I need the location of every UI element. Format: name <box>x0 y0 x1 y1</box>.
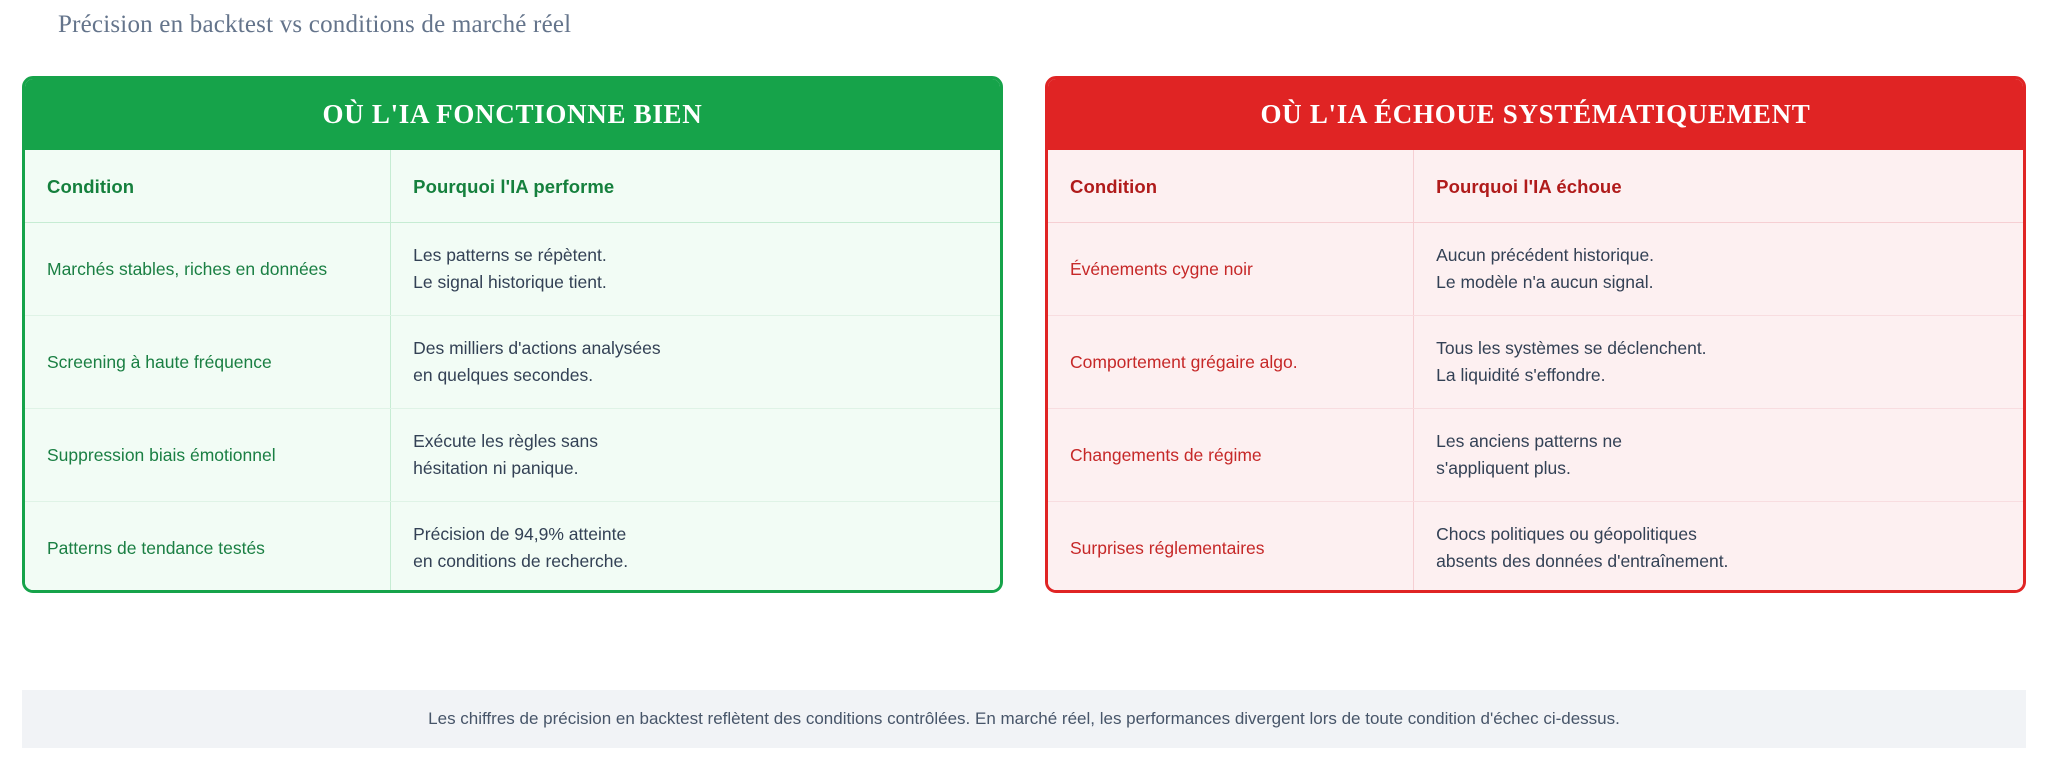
column-header-condition: Condition <box>25 150 391 223</box>
table-row: Marchés stables, riches en données Les p… <box>25 223 1000 316</box>
cell-condition: Surprises réglementaires <box>1048 502 1414 594</box>
cell-why-line-1: Des milliers d'actions analysées <box>413 335 978 362</box>
cell-why-line-1: Précision de 94,9% atteinte <box>413 521 978 548</box>
table-row: Patterns de tendance testés Précision de… <box>25 502 1000 594</box>
panel-where-ai-fails: OÙ L'IA ÉCHOUE SYSTÉMATIQUEMENT Conditio… <box>1045 76 2026 593</box>
cell-why-line-2: en conditions de recherche. <box>413 548 978 575</box>
cell-why: Précision de 94,9% atteinte en condition… <box>391 502 1000 594</box>
table-row: Changements de régime Les anciens patter… <box>1048 409 2023 502</box>
table-header-row: Condition Pourquoi l'IA performe <box>25 150 1000 223</box>
cell-why-line-2: Le modèle n'a aucun signal. <box>1436 269 2001 296</box>
cell-condition: Marchés stables, riches en données <box>25 223 391 316</box>
footer-disclaimer: Les chiffres de précision en backtest re… <box>22 690 2026 748</box>
panel-where-ai-works: OÙ L'IA FONCTIONNE BIEN Condition Pourqu… <box>22 76 1003 593</box>
panels-row: OÙ L'IA FONCTIONNE BIEN Condition Pourqu… <box>22 76 2026 593</box>
cell-why-line-2: hésitation ni panique. <box>413 455 978 482</box>
cell-condition: Comportement grégaire algo. <box>1048 316 1414 409</box>
page-title: Précision en backtest vs conditions de m… <box>58 10 571 40</box>
cell-why: Chocs politiques ou géopolitiques absent… <box>1414 502 2023 594</box>
cell-why-line-1: Exécute les règles sans <box>413 428 978 455</box>
cell-why-line-2: en quelques secondes. <box>413 362 978 389</box>
cell-why-line-1: Aucun précédent historique. <box>1436 242 2001 269</box>
cell-condition: Screening à haute fréquence <box>25 316 391 409</box>
table-row: Suppression biais émotionnel Exécute les… <box>25 409 1000 502</box>
table-row: Surprises réglementaires Chocs politique… <box>1048 502 2023 594</box>
cell-why: Les anciens patterns ne s'appliquent plu… <box>1414 409 2023 502</box>
cell-why-line-2: La liquidité s'effondre. <box>1436 362 2001 389</box>
table-header-row: Condition Pourquoi l'IA échoue <box>1048 150 2023 223</box>
panel-bad-body: Condition Pourquoi l'IA échoue Événement… <box>1048 150 2023 590</box>
cell-why: Tous les systèmes se déclenchent. La liq… <box>1414 316 2023 409</box>
panel-bad-header: OÙ L'IA ÉCHOUE SYSTÉMATIQUEMENT <box>1048 79 2023 150</box>
cell-why: Les patterns se répètent. Le signal hist… <box>391 223 1000 316</box>
cell-why-line-2: s'appliquent plus. <box>1436 455 2001 482</box>
table-row: Screening à haute fréquence Des milliers… <box>25 316 1000 409</box>
cell-condition: Patterns de tendance testés <box>25 502 391 594</box>
cell-why-line-2: Le signal historique tient. <box>413 269 978 296</box>
cell-condition: Suppression biais émotionnel <box>25 409 391 502</box>
cell-why: Des milliers d'actions analysées en quel… <box>391 316 1000 409</box>
cell-condition: Événements cygne noir <box>1048 223 1414 316</box>
table-row: Comportement grégaire algo. Tous les sys… <box>1048 316 2023 409</box>
panel-good-body: Condition Pourquoi l'IA performe Marchés… <box>25 150 1000 590</box>
cell-condition: Changements de régime <box>1048 409 1414 502</box>
panel-good-header: OÙ L'IA FONCTIONNE BIEN <box>25 79 1000 150</box>
cell-why: Exécute les règles sans hésitation ni pa… <box>391 409 1000 502</box>
table-where-ai-works: Condition Pourquoi l'IA performe Marchés… <box>25 150 1000 593</box>
column-header-why: Pourquoi l'IA échoue <box>1414 150 2023 223</box>
cell-why-line-1: Chocs politiques ou géopolitiques <box>1436 521 2001 548</box>
column-header-why: Pourquoi l'IA performe <box>391 150 1000 223</box>
table-where-ai-fails: Condition Pourquoi l'IA échoue Événement… <box>1048 150 2023 593</box>
table-row: Événements cygne noir Aucun précédent hi… <box>1048 223 2023 316</box>
cell-why-line-1: Les anciens patterns ne <box>1436 428 2001 455</box>
comparison-page: Précision en backtest vs conditions de m… <box>0 0 2048 768</box>
cell-why: Aucun précédent historique. Le modèle n'… <box>1414 223 2023 316</box>
cell-why-line-2: absents des données d'entraînement. <box>1436 548 2001 575</box>
cell-why-line-1: Les patterns se répètent. <box>413 242 978 269</box>
column-header-condition: Condition <box>1048 150 1414 223</box>
cell-why-line-1: Tous les systèmes se déclenchent. <box>1436 335 2001 362</box>
